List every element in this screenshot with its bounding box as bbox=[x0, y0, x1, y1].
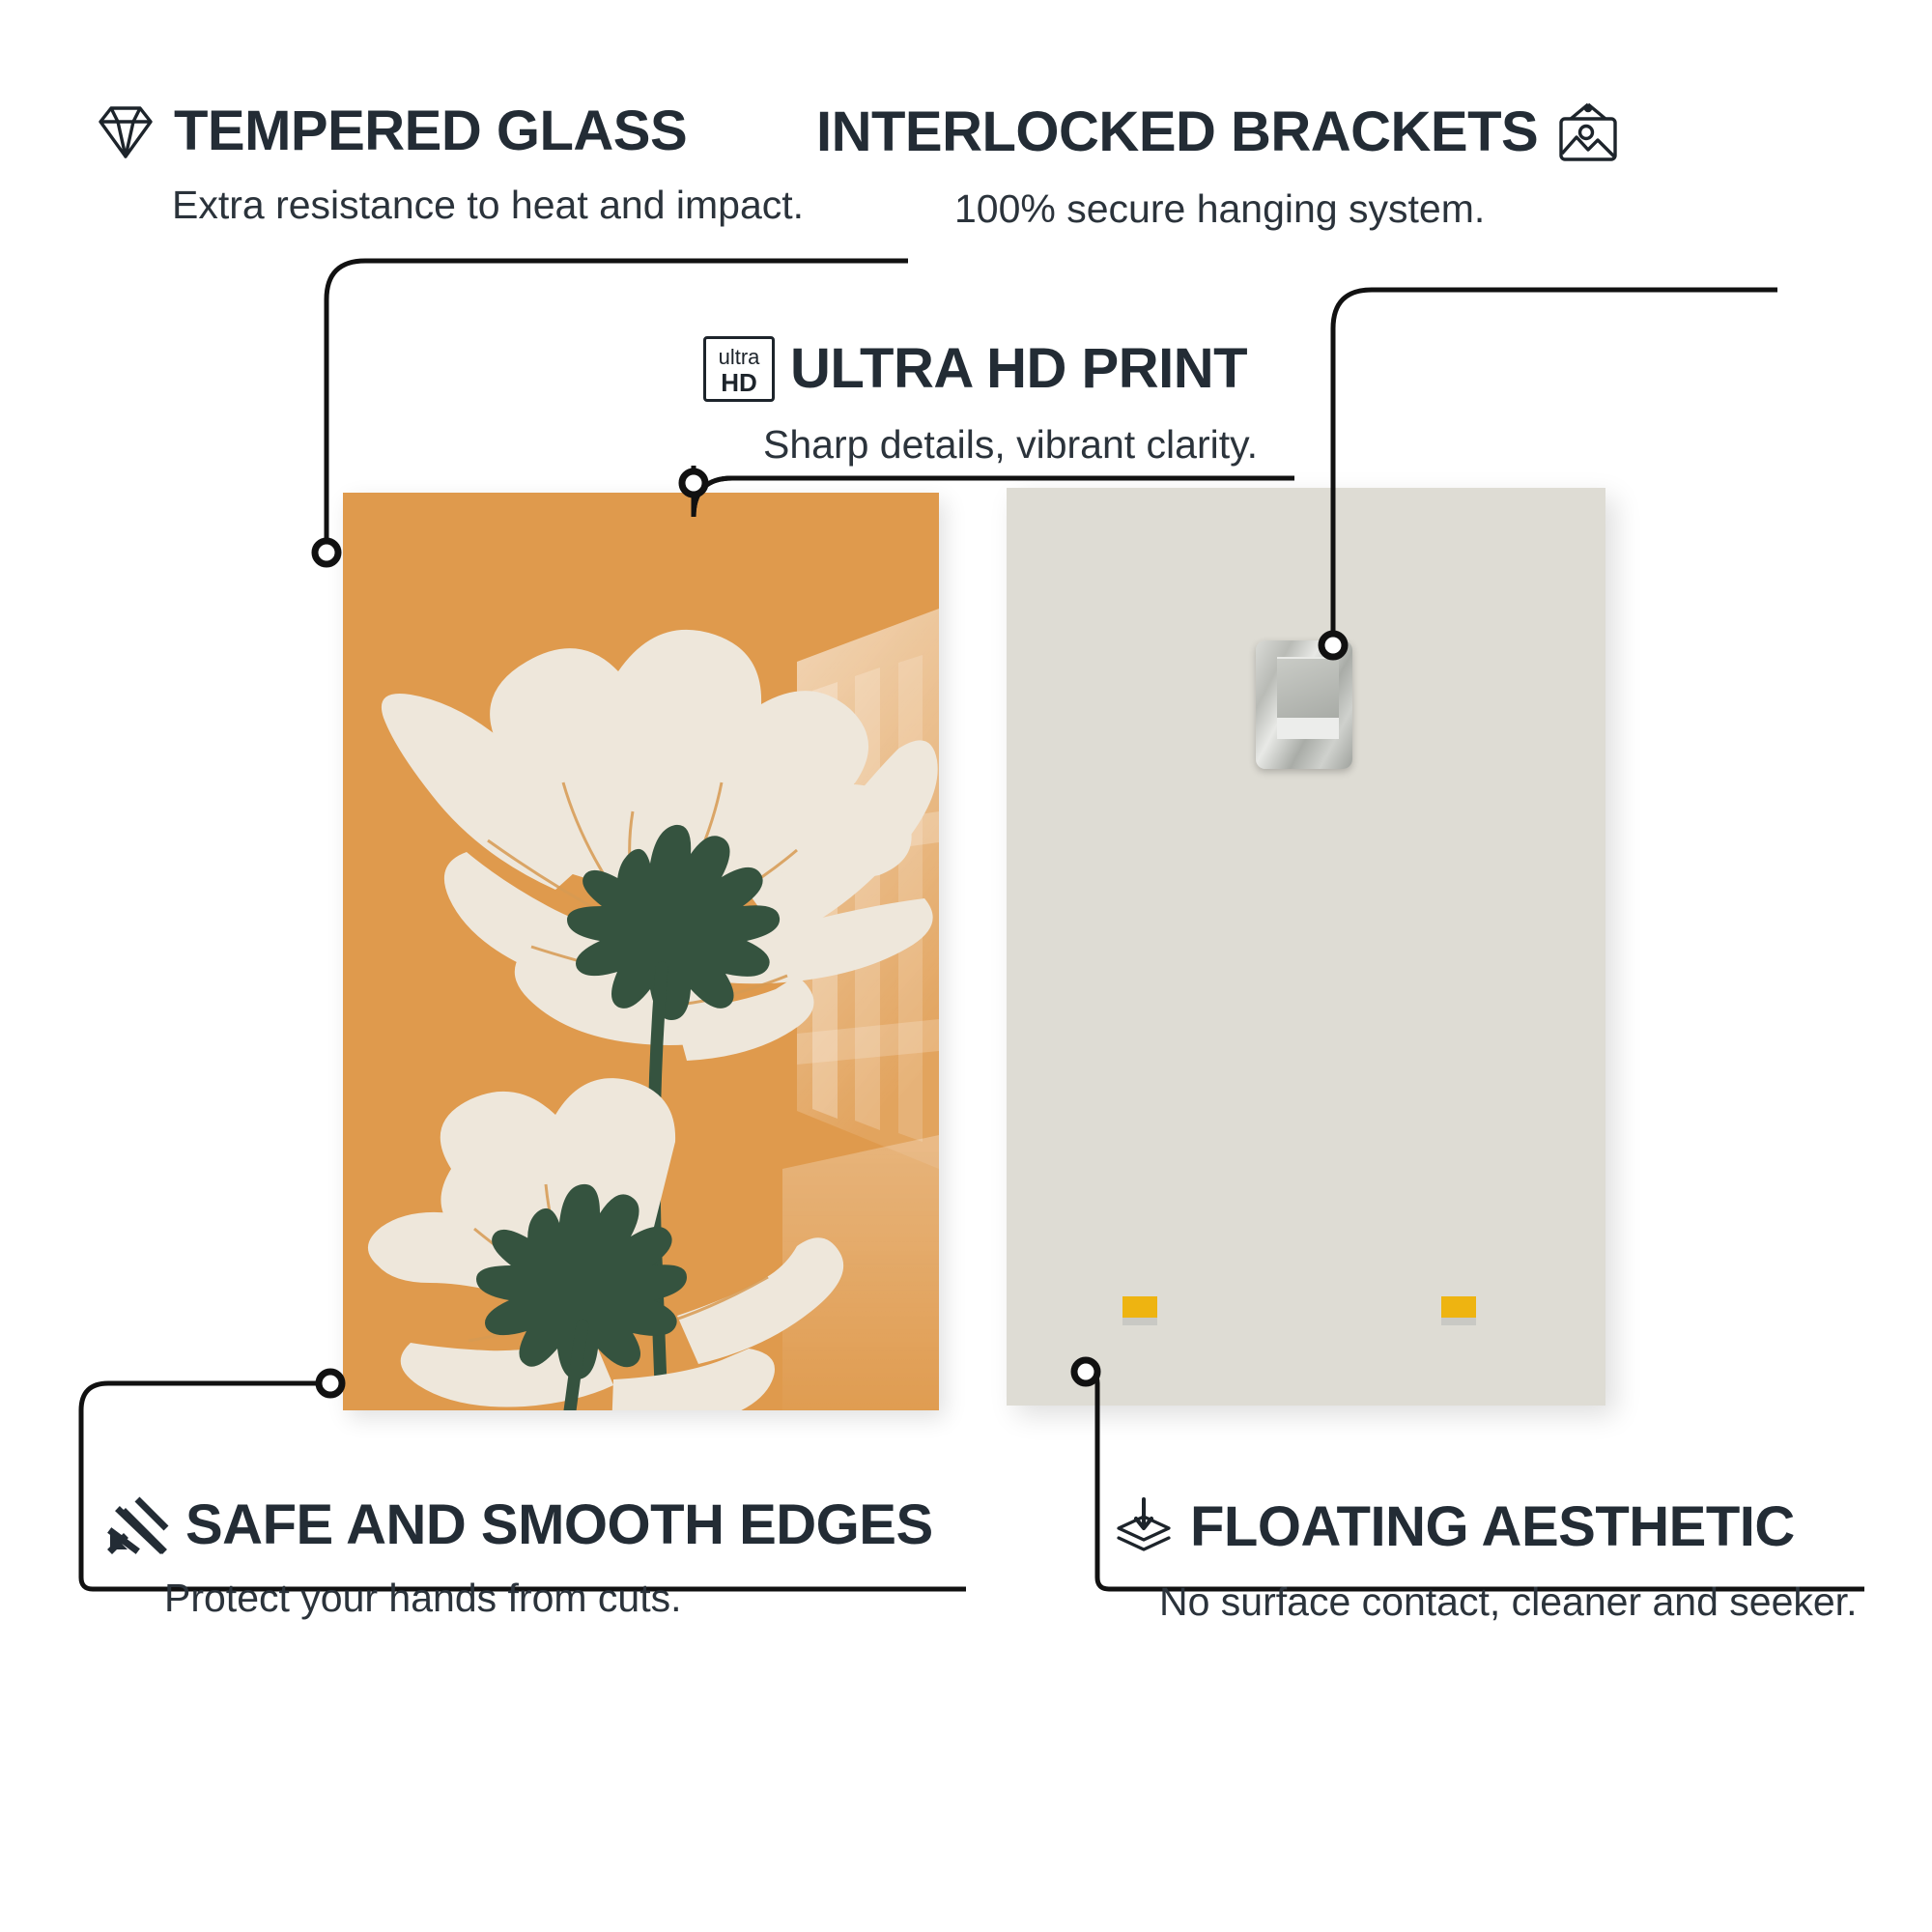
callout-connectors bbox=[0, 0, 1932, 1932]
arrow-into-plate-icon bbox=[1113, 1495, 1175, 1559]
bracket-slot bbox=[1277, 657, 1339, 720]
feature-interlocked-brackets: INTERLOCKED BRACKETS 100% secure hanging… bbox=[816, 100, 1623, 231]
badge-line-ultra: ultra bbox=[719, 347, 760, 368]
bracket-keyhole bbox=[1277, 718, 1339, 739]
feature-title: ULTRA HD PRINT bbox=[790, 341, 1247, 397]
feature-tempered-glass: TEMPERED GLASS Extra resistance to heat … bbox=[93, 100, 804, 227]
mounting-back-panel bbox=[1007, 488, 1605, 1406]
ultra-hd-badge-icon: ultra HD bbox=[703, 336, 775, 402]
spacer-pad-adhesive bbox=[1122, 1296, 1157, 1318]
printed-art-panel bbox=[343, 493, 939, 1410]
spacer-pad-right bbox=[1441, 1296, 1476, 1325]
badge-line-hd: HD bbox=[721, 370, 757, 395]
feature-title: INTERLOCKED BRACKETS bbox=[816, 104, 1538, 160]
spacer-pad-adhesive bbox=[1441, 1296, 1476, 1318]
feature-subtitle: Protect your hands from cuts. bbox=[164, 1577, 933, 1620]
spacer-pad-base bbox=[1441, 1318, 1476, 1325]
feature-title: FLOATING AESTHETIC bbox=[1190, 1499, 1795, 1555]
infographic-stage: TEMPERED GLASS Extra resistance to heat … bbox=[0, 0, 1932, 1932]
hanging-frame-icon bbox=[1553, 100, 1623, 164]
feature-subtitle: Extra resistance to heat and impact. bbox=[172, 184, 804, 227]
feature-subtitle: No surface contact, cleaner and seeker. bbox=[1159, 1580, 1857, 1624]
hanging-bracket bbox=[1256, 640, 1352, 769]
feature-title: TEMPERED GLASS bbox=[174, 103, 687, 159]
feature-subtitle: Sharp details, vibrant clarity. bbox=[763, 423, 1258, 467]
feature-title: SAFE AND SMOOTH EDGES bbox=[185, 1497, 933, 1553]
feature-floating-aesthetic: FLOATING AESTHETIC No surface contact, c… bbox=[1113, 1495, 1857, 1624]
feature-ultra-hd-print: ultra HD ULTRA HD PRINT Sharp details, v… bbox=[703, 336, 1258, 467]
feature-subtitle: 100% secure hanging system. bbox=[954, 187, 1623, 231]
spacer-pad-base bbox=[1122, 1318, 1157, 1325]
spacer-pad-left bbox=[1122, 1296, 1157, 1325]
flower-artwork bbox=[343, 493, 939, 1410]
feature-safe-smooth-edges: SAFE AND SMOOTH EDGES Protect your hands… bbox=[106, 1495, 933, 1620]
diamond-icon bbox=[93, 100, 158, 162]
diagonal-stripes-icon bbox=[106, 1495, 170, 1555]
